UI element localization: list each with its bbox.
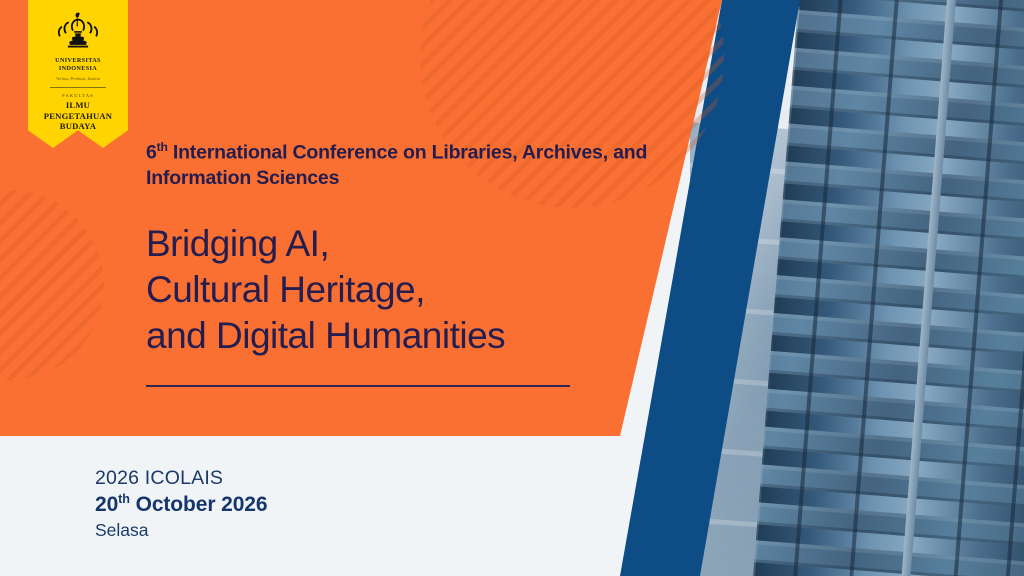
university-name-line1: UNIVERSITAS (55, 57, 101, 64)
faculty-name-line1: ILMU (66, 100, 90, 110)
tower-main-facade (751, 0, 1024, 576)
headline-line-1: Bridging AI, (146, 221, 706, 267)
university-name-line2: INDONESIA (59, 65, 97, 72)
poster-content: 6th International Conference on Librarie… (146, 140, 706, 387)
university-logo-ribbon: UNIVERSITASINDONESIA Veritas, Probitas, … (28, 0, 128, 148)
poster-footer: 2026 ICOLAIS 20th October 2026 Selasa (95, 466, 267, 542)
faculty-name-line3: BUDAYA (60, 121, 96, 131)
ribbon-divider (50, 87, 106, 88)
university-motto: Veritas, Probitas, Iustitia (56, 76, 100, 81)
headline-line-3: and Digital Humanities (146, 313, 706, 359)
conference-ordinal-suffix: th (157, 140, 168, 154)
faculty-name: ILMUPENGETAHUANBUDAYA (44, 100, 112, 131)
poster-headline: Bridging AI, Cultural Heritage, and Digi… (146, 221, 706, 359)
event-code: 2026 ICOLAIS (95, 466, 267, 490)
headline-divider-rule (146, 385, 570, 388)
faculty-name-line2: PENGETAHUAN (44, 111, 112, 121)
conference-ordinal-number: 6 (146, 142, 157, 164)
conference-kicker-text: International Conference on Libraries, A… (146, 142, 647, 190)
makara-ui-emblem-icon (56, 10, 100, 54)
event-date-suffix: th (118, 492, 130, 506)
headline-line-2: Cultural Heritage, (146, 267, 706, 313)
event-weekday: Selasa (95, 519, 267, 542)
event-date-rest: October 2026 (130, 493, 268, 516)
event-date: 20th October 2026 (95, 491, 267, 518)
conference-poster: UNIVERSITASINDONESIA Veritas, Probitas, … (0, 0, 1024, 576)
event-date-day: 20 (95, 493, 118, 516)
faculty-label: FAKULTAS (62, 93, 94, 98)
university-name: UNIVERSITASINDONESIA (55, 57, 101, 73)
conference-kicker: 6th International Conference on Librarie… (146, 140, 706, 192)
